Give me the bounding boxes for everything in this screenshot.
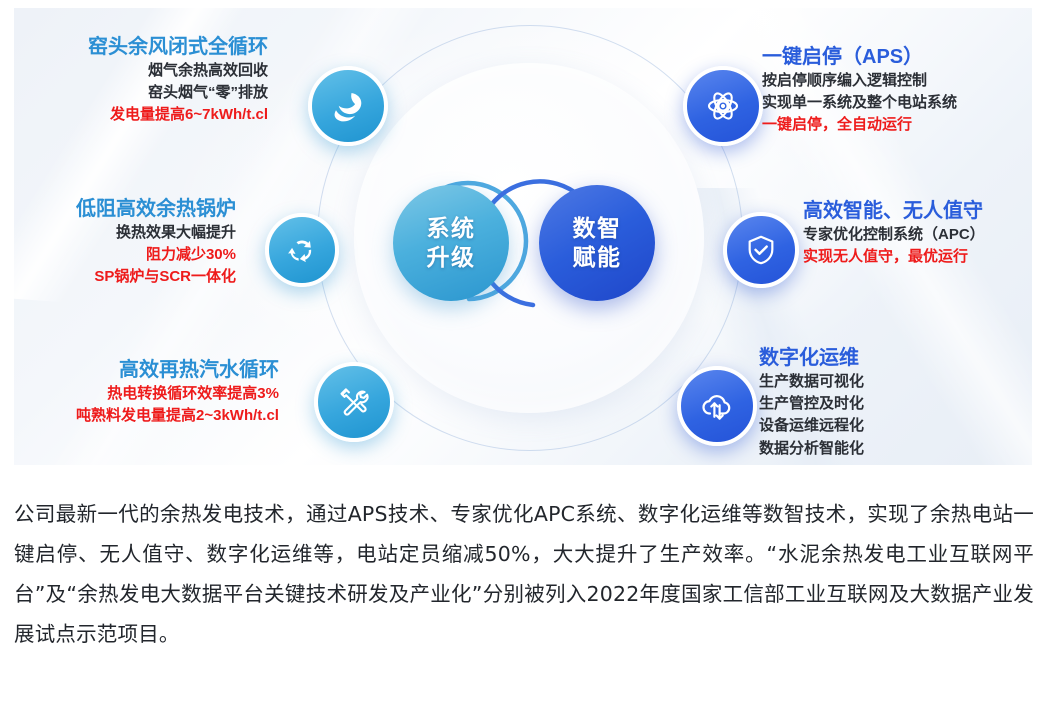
bubble-line-2: 赋能 [573, 243, 622, 272]
block-title: 数字化运维 [759, 345, 864, 371]
block-line: 换热效果大幅提升 [76, 222, 236, 244]
block-line: 数据分析智能化 [759, 438, 864, 460]
text-block-reheat-steam-water-cycle: 高效再热汽水循环 热电转换循环效率提高3% 吨熟料发电量提高2~3kWh/t.c… [76, 357, 279, 427]
block-line-highlight: 实现无人值守，最优运行 [803, 246, 985, 268]
block-line: 生产管控及时化 [759, 393, 864, 415]
block-title: 低阻高效余热锅炉 [76, 196, 236, 222]
wind-swirl-icon [330, 88, 366, 124]
bubble-digital-empowerment: 数智 赋能 [539, 185, 655, 301]
bubble-line-1: 系统 [427, 214, 476, 243]
body-paragraph: 公司最新一代的余热发电技术，通过APS技术、专家优化APC系统、数字化运维等数智… [14, 494, 1034, 654]
block-title: 高效智能、无人值守 [803, 198, 985, 224]
block-line: 实现单一系统及整个电站系统 [762, 92, 957, 114]
bubble-line-2: 升级 [427, 243, 476, 272]
block-line-highlight: 一键启停，全自动运行 [762, 114, 957, 136]
block-line-highlight: SP锅炉与SCR一体化 [76, 266, 236, 288]
block-line-highlight: 发电量提高6~7kWh/t.cl [88, 104, 268, 126]
paragraph-text: 公司最新一代的余热发电技术，通过APS技术、专家优化APC系统、数字化运维等数智… [14, 494, 1034, 654]
shield-check-icon [744, 233, 778, 267]
block-line: 按启停顺序编入逻辑控制 [762, 70, 957, 92]
node-icon-kiln-head-waste-air[interactable] [308, 66, 388, 146]
center-core: 系统 升级 数智 赋能 [383, 171, 683, 316]
text-block-low-resistance-boiler: 低阻高效余热锅炉 换热效果大幅提升 阻力减少30% SP锅炉与SCR一体化 [76, 196, 236, 289]
block-title: 窑头余风闭式全循环 [88, 34, 268, 60]
page-root: 系统 升级 数智 赋能 [0, 0, 1046, 716]
block-line: 设备运维远程化 [759, 415, 864, 437]
text-block-kiln-head-waste-air: 窑头余风闭式全循环 烟气余热高效回收 窑头烟气“零”排放 发电量提高6~7kWh… [88, 34, 268, 127]
block-line: 窑头烟气“零”排放 [88, 82, 268, 104]
bubble-system-upgrade: 系统 升级 [393, 185, 509, 301]
block-line-highlight: 热电转换循环效率提高3% [76, 383, 279, 405]
block-line-highlight: 吨熟料发电量提高2~3kWh/t.cl [76, 405, 279, 427]
node-icon-reheat-steam-water-cycle[interactable] [314, 362, 394, 442]
block-title: 一键启停（APS） [762, 44, 957, 70]
hammer-wrench-icon [336, 384, 372, 420]
block-line: 生产数据可视化 [759, 371, 864, 393]
block-line-highlight: 阻力减少30% [76, 244, 236, 266]
infographic-panel: 系统 升级 数智 赋能 [14, 8, 1032, 465]
text-block-digital-operation: 数字化运维 生产数据可视化 生产管控及时化 设备运维远程化 数据分析智能化 [759, 345, 864, 460]
block-title: 高效再热汽水循环 [76, 357, 279, 383]
cloud-sync-icon [699, 388, 735, 424]
atom-icon [705, 88, 741, 124]
node-icon-low-resistance-boiler[interactable] [265, 213, 339, 287]
node-icon-smart-unattended[interactable] [723, 212, 799, 288]
text-block-one-key-start-stop: 一键启停（APS） 按启停顺序编入逻辑控制 实现单一系统及整个电站系统 一键启停… [762, 44, 957, 137]
block-line: 烟气余热高效回收 [88, 60, 268, 82]
block-line: 专家优化控制系统（APC） [803, 224, 985, 246]
node-icon-one-key-start-stop[interactable] [683, 66, 763, 146]
bubble-line-1: 数智 [573, 214, 622, 243]
text-block-smart-unattended: 高效智能、无人值守 专家优化控制系统（APC） 实现无人值守，最优运行 [803, 198, 985, 268]
recycle-arrows-icon [285, 233, 319, 267]
node-icon-digital-operation[interactable] [677, 366, 757, 446]
